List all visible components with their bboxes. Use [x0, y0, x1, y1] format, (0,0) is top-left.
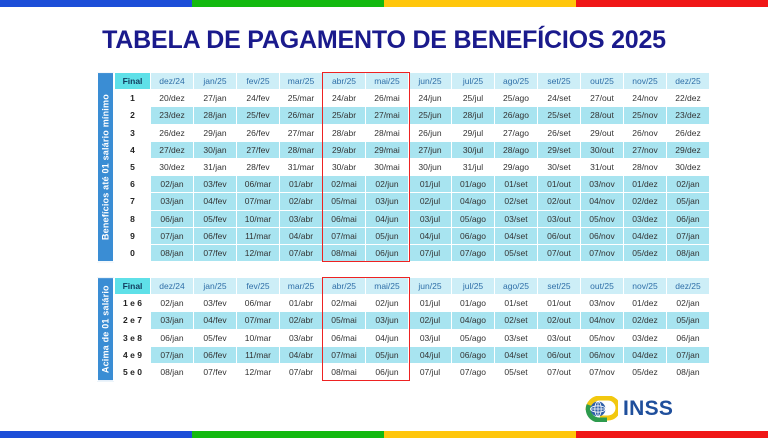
payment-date-cell: 25/mar: [280, 90, 323, 107]
payment-date-cell: 30/out: [581, 141, 624, 158]
payment-date-cell: 31/jan: [194, 158, 237, 175]
payment-date-cell: 07/out: [538, 363, 581, 380]
payment-date-cell: 02/mai: [323, 295, 366, 312]
payment-date-cell: 06/mar: [237, 295, 280, 312]
payment-date-cell: 24/abr: [323, 90, 366, 107]
table1-month-header-fev-25: fev/25: [237, 73, 280, 90]
payment-date-cell: 06/mar: [237, 176, 280, 193]
payment-date-cell: 01/dez: [624, 176, 667, 193]
payment-date-cell: 02/set: [495, 193, 538, 210]
payment-date-cell: 24/jun: [409, 90, 452, 107]
payment-date-cell: 26/dez: [667, 124, 710, 141]
payment-date-cell: 02/mai: [323, 176, 366, 193]
table-row: 120/dez27/jan24/fev25/mar24/abr26/mai24/…: [115, 90, 710, 107]
payment-date-cell: 03/jun: [366, 312, 409, 329]
table-row: 008/jan07/fev12/mar07/abr08/mai06/jun07/…: [115, 244, 710, 261]
payment-date-cell: 24/nov: [624, 90, 667, 107]
table1-header: Finaldez/24jan/25fev/25mar/25abr/25mai/2…: [115, 73, 710, 90]
payment-date-cell: 27/dez: [151, 141, 194, 158]
bottom-bar-segment-blue: [0, 431, 192, 438]
table2-final-value: 1 e 6: [115, 295, 151, 312]
payment-date-cell: 05/jun: [366, 346, 409, 363]
table-row: 703/jan04/fev07/mar02/abr05/mai03/jun02/…: [115, 193, 710, 210]
payment-date-cell: 02/jan: [151, 295, 194, 312]
payment-date-cell: 02/out: [538, 193, 581, 210]
payment-date-cell: 31/mar: [280, 158, 323, 175]
payment-date-cell: 30/mai: [366, 158, 409, 175]
payment-date-cell: 03/jan: [151, 312, 194, 329]
table2-final-header: Final: [115, 278, 151, 295]
table1-final-value: 4: [115, 141, 151, 158]
payment-date-cell: 08/mai: [323, 244, 366, 261]
payment-date-cell: 07/jan: [151, 227, 194, 244]
payment-date-cell: 05/jan: [667, 193, 710, 210]
table1-month-header-dez-25: dez/25: [667, 73, 710, 90]
table2-final-value: 3 e 8: [115, 329, 151, 346]
payment-date-cell: 29/dez: [667, 141, 710, 158]
payment-date-cell: 07/mar: [237, 312, 280, 329]
payment-date-cell: 24/fev: [237, 90, 280, 107]
payment-date-cell: 27/nov: [624, 141, 667, 158]
payment-date-cell: 07/mar: [237, 193, 280, 210]
payment-date-cell: 25/ago: [495, 90, 538, 107]
payment-date-cell: 03/dez: [624, 210, 667, 227]
table2-month-header-mai-25: mai/25: [366, 278, 409, 295]
payment-date-cell: 12/mar: [237, 244, 280, 261]
payment-date-cell: 10/mar: [237, 210, 280, 227]
payment-date-cell: 03/nov: [581, 176, 624, 193]
payment-date-cell: 26/nov: [624, 124, 667, 141]
payment-date-cell: 01/abr: [280, 176, 323, 193]
payment-date-cell: 06/jan: [151, 210, 194, 227]
inss-logo-mark: [584, 396, 618, 422]
payment-date-cell: 05/mai: [323, 193, 366, 210]
payment-date-cell: 04/dez: [624, 346, 667, 363]
payment-date-cell: 07/nov: [581, 244, 624, 261]
payment-date-cell: 05/nov: [581, 329, 624, 346]
payment-date-cell: 01/jul: [409, 176, 452, 193]
payment-date-cell: 07/fev: [194, 244, 237, 261]
payment-date-cell: 02/abr: [280, 193, 323, 210]
payment-date-cell: 02/jul: [409, 193, 452, 210]
payment-date-cell: 07/jul: [409, 244, 452, 261]
table2-month-header-nov-25: nov/25: [624, 278, 667, 295]
payment-date-cell: 07/out: [538, 244, 581, 261]
payment-date-cell: 27/mai: [366, 107, 409, 124]
payment-date-cell: 27/out: [581, 90, 624, 107]
payment-date-cell: 03/jul: [409, 329, 452, 346]
payment-date-cell: 06/mai: [323, 329, 366, 346]
inss-globe-icon: [584, 396, 618, 422]
payment-date-cell: 06/jan: [151, 329, 194, 346]
inss-wordmark: INSS: [623, 397, 673, 421]
payment-date-cell: 02/jun: [366, 176, 409, 193]
table1-final-value: 8: [115, 210, 151, 227]
payment-date-cell: 04/jul: [409, 227, 452, 244]
table1-month-header-abr-25: abr/25: [323, 73, 366, 90]
table1-final-value: 1: [115, 90, 151, 107]
payment-date-cell: 22/dez: [667, 90, 710, 107]
table-row: 4 e 907/jan06/fev11/mar04/abr07/mai05/ju…: [115, 346, 710, 363]
payment-date-cell: 26/mai: [366, 90, 409, 107]
payment-date-cell: 02/jan: [667, 295, 710, 312]
payment-date-cell: 25/fev: [237, 107, 280, 124]
table2-side-label: Acima de 01 salário: [97, 277, 114, 381]
payment-date-cell: 06/out: [538, 346, 581, 363]
payment-date-cell: 05/ago: [452, 210, 495, 227]
payment-date-cell: 01/set: [495, 295, 538, 312]
payment-date-cell: 02/abr: [280, 312, 323, 329]
payment-date-cell: 07/mai: [323, 227, 366, 244]
payment-date-cell: 26/ago: [495, 107, 538, 124]
table-row: 2 e 703/jan04/fev07/mar02/abr05/mai03/ju…: [115, 312, 710, 329]
table-row: 3 e 806/jan05/fev10/mar03/abr06/mai04/ju…: [115, 329, 710, 346]
payment-date-cell: 05/set: [495, 363, 538, 380]
table1-final-value: 7: [115, 193, 151, 210]
payment-date-cell: 07/fev: [194, 363, 237, 380]
payment-date-cell: 30/abr: [323, 158, 366, 175]
table1-month-header-jun-25: jun/25: [409, 73, 452, 90]
page-root: TABELA DE PAGAMENTO DE BENEFÍCIOS 2025 B…: [0, 0, 768, 438]
table2-header: Finaldez/24jan/25fev/25mar/25abr/25mai/2…: [115, 278, 710, 295]
payment-date-cell: 02/out: [538, 312, 581, 329]
payment-date-cell: 28/out: [581, 107, 624, 124]
payment-date-cell: 07/ago: [452, 363, 495, 380]
table-row: 5 e 008/jan07/fev12/mar07/abr08/mai06/ju…: [115, 363, 710, 380]
payment-date-cell: 06/fev: [194, 227, 237, 244]
benefits-table-minimum-wage: Benefícios até 01 salário mínimo Finalde…: [97, 72, 710, 262]
payment-date-cell: 25/jul: [452, 90, 495, 107]
table-row: 530/dez31/jan28/fev31/mar30/abr30/mai30/…: [115, 158, 710, 175]
payment-date-cell: 31/out: [581, 158, 624, 175]
payment-date-cell: 28/ago: [495, 141, 538, 158]
table-row: 1 e 602/jan03/fev06/mar01/abr02/mai02/ju…: [115, 295, 710, 312]
payment-date-cell: 04/dez: [624, 227, 667, 244]
payment-date-cell: 08/mai: [323, 363, 366, 380]
table1-month-header-dez-24: dez/24: [151, 73, 194, 90]
payment-date-cell: 06/fev: [194, 346, 237, 363]
table1-month-header-mar-25: mar/25: [280, 73, 323, 90]
table1-final-value: 0: [115, 244, 151, 261]
payment-date-cell: 28/jan: [194, 107, 237, 124]
payment-date-cell: 04/set: [495, 346, 538, 363]
payment-date-cell: 26/jun: [409, 124, 452, 141]
payment-date-cell: 05/jun: [366, 227, 409, 244]
payment-date-cell: 04/jun: [366, 329, 409, 346]
payment-date-cell: 29/out: [581, 124, 624, 141]
payment-date-cell: 28/abr: [323, 124, 366, 141]
table2-month-header-dez-25: dez/25: [667, 278, 710, 295]
bottom-bar-segment-yellow: [384, 431, 576, 438]
payment-date-cell: 02/jun: [366, 295, 409, 312]
payment-date-cell: 08/jan: [667, 363, 710, 380]
table2-month-header-out-25: out/25: [581, 278, 624, 295]
table1-body: 120/dez27/jan24/fev25/mar24/abr26/mai24/…: [115, 90, 710, 262]
table2-final-value: 5 e 0: [115, 363, 151, 380]
payment-date-cell: 01/out: [538, 295, 581, 312]
payment-date-cell: 02/jul: [409, 312, 452, 329]
table1-month-header-out-25: out/25: [581, 73, 624, 90]
payment-date-cell: 12/mar: [237, 363, 280, 380]
payment-date-cell: 30/dez: [151, 158, 194, 175]
table1-header-row: Finaldez/24jan/25fev/25mar/25abr/25mai/2…: [115, 73, 710, 90]
payment-date-cell: 23/dez: [667, 107, 710, 124]
table2-month-header-dez-24: dez/24: [151, 278, 194, 295]
payment-date-cell: 30/jan: [194, 141, 237, 158]
table1-month-header-set-25: set/25: [538, 73, 581, 90]
payment-date-cell: 05/fev: [194, 210, 237, 227]
payment-date-cell: 05/ago: [452, 329, 495, 346]
payment-date-cell: 29/jul: [452, 124, 495, 141]
payment-date-cell: 06/jun: [366, 244, 409, 261]
payment-date-cell: 04/jul: [409, 346, 452, 363]
payment-date-cell: 08/jan: [151, 244, 194, 261]
payment-date-cell: 03/dez: [624, 329, 667, 346]
payment-date-cell: 05/nov: [581, 210, 624, 227]
table2-final-value: 2 e 7: [115, 312, 151, 329]
table1-month-header-nov-25: nov/25: [624, 73, 667, 90]
table2-header-row: Finaldez/24jan/25fev/25mar/25abr/25mai/2…: [115, 278, 710, 295]
payment-date-cell: 26/fev: [237, 124, 280, 141]
table1-final-value: 6: [115, 176, 151, 193]
payment-date-cell: 07/jan: [667, 227, 710, 244]
table2-month-header-mar-25: mar/25: [280, 278, 323, 295]
payment-date-cell: 07/jul: [409, 363, 452, 380]
payment-date-cell: 02/jan: [151, 176, 194, 193]
payment-date-cell: 02/jan: [667, 176, 710, 193]
table1-final-value: 9: [115, 227, 151, 244]
table1-month-header-mai-25: mai/25: [366, 73, 409, 90]
payment-date-cell: 06/jun: [366, 363, 409, 380]
table1-month-header-jan-25: jan/25: [194, 73, 237, 90]
top-bar-segment-green: [192, 0, 384, 7]
payment-date-cell: 06/jan: [667, 210, 710, 227]
payment-date-cell: 30/dez: [667, 158, 710, 175]
payment-date-cell: 28/mar: [280, 141, 323, 158]
inss-logo: INSS: [584, 396, 673, 422]
payment-date-cell: 06/mai: [323, 210, 366, 227]
payment-date-cell: 01/dez: [624, 295, 667, 312]
payment-date-cell: 27/fev: [237, 141, 280, 158]
table2-final-value: 4 e 9: [115, 346, 151, 363]
table1-month-header-ago-25: ago/25: [495, 73, 538, 90]
payment-date-cell: 29/abr: [323, 141, 366, 158]
payment-date-cell: 03/set: [495, 210, 538, 227]
payment-date-cell: 06/nov: [581, 227, 624, 244]
payment-date-cell: 04/abr: [280, 346, 323, 363]
page-title: TABELA DE PAGAMENTO DE BENEFÍCIOS 2025: [0, 26, 768, 55]
payment-date-cell: 07/nov: [581, 363, 624, 380]
table1-final-header: Final: [115, 73, 151, 90]
payment-date-cell: 27/jan: [194, 90, 237, 107]
payment-date-cell: 06/nov: [581, 346, 624, 363]
payment-date-cell: 26/set: [538, 124, 581, 141]
payment-date-cell: 07/jan: [151, 346, 194, 363]
table2-month-header-ago-25: ago/25: [495, 278, 538, 295]
payment-date-cell: 04/fev: [194, 312, 237, 329]
payment-date-cell: 26/mar: [280, 107, 323, 124]
table2-body: 1 e 602/jan03/fev06/mar01/abr02/mai02/ju…: [115, 295, 710, 381]
table1-final-value: 2: [115, 107, 151, 124]
payment-date-cell: 06/out: [538, 227, 581, 244]
payment-date-cell: 31/jul: [452, 158, 495, 175]
payment-date-cell: 03/fev: [194, 295, 237, 312]
payment-date-cell: 25/jun: [409, 107, 452, 124]
table2-month-header-set-25: set/25: [538, 278, 581, 295]
payment-date-cell: 04/ago: [452, 193, 495, 210]
table2: Finaldez/24jan/25fev/25mar/25abr/25mai/2…: [114, 277, 710, 381]
payment-date-cell: 04/jun: [366, 210, 409, 227]
payment-date-cell: 28/mai: [366, 124, 409, 141]
payment-date-cell: 04/abr: [280, 227, 323, 244]
payment-date-cell: 03/jun: [366, 193, 409, 210]
payment-date-cell: 11/mar: [237, 346, 280, 363]
payment-date-cell: 08/jan: [667, 244, 710, 261]
payment-date-cell: 04/nov: [581, 193, 624, 210]
payment-date-cell: 07/abr: [280, 244, 323, 261]
payment-date-cell: 24/set: [538, 90, 581, 107]
payment-date-cell: 29/jan: [194, 124, 237, 141]
payment-date-cell: 03/abr: [280, 329, 323, 346]
payment-date-cell: 01/set: [495, 176, 538, 193]
payment-date-cell: 01/ago: [452, 295, 495, 312]
payment-date-cell: 10/mar: [237, 329, 280, 346]
top-bar-segment-yellow: [384, 0, 576, 7]
payment-date-cell: 03/abr: [280, 210, 323, 227]
top-color-bar: [0, 0, 768, 7]
table-row: 806/jan05/fev10/mar03/abr06/mai04/jun03/…: [115, 210, 710, 227]
payment-date-cell: 04/ago: [452, 312, 495, 329]
payment-date-cell: 30/jun: [409, 158, 452, 175]
top-bar-segment-blue: [0, 0, 192, 7]
payment-date-cell: 04/set: [495, 227, 538, 244]
table-row: 326/dez29/jan26/fev27/mar28/abr28/mai26/…: [115, 124, 710, 141]
payment-date-cell: 11/mar: [237, 227, 280, 244]
payment-date-cell: 03/out: [538, 210, 581, 227]
table-row: 427/dez30/jan27/fev28/mar29/abr29/mai27/…: [115, 141, 710, 158]
table-row: 223/dez28/jan25/fev26/mar25/abr27/mai25/…: [115, 107, 710, 124]
payment-date-cell: 04/nov: [581, 312, 624, 329]
payment-date-cell: 03/set: [495, 329, 538, 346]
table1-month-header-jul-25: jul/25: [452, 73, 495, 90]
payment-date-cell: 30/set: [538, 158, 581, 175]
payment-date-cell: 07/jan: [667, 346, 710, 363]
table2-month-header-abr-25: abr/25: [323, 278, 366, 295]
payment-date-cell: 05/fev: [194, 329, 237, 346]
payment-date-cell: 01/out: [538, 176, 581, 193]
table1-final-value: 3: [115, 124, 151, 141]
benefits-table-above-minimum-wage: Acima de 01 salário Finaldez/24jan/25fev…: [97, 277, 710, 381]
bottom-color-bar: [0, 431, 768, 438]
table-row: 907/jan06/fev11/mar04/abr07/mai05/jun04/…: [115, 227, 710, 244]
table-row: 602/jan03/fev06/mar01/abr02/mai02/jun01/…: [115, 176, 710, 193]
payment-date-cell: 05/mai: [323, 312, 366, 329]
payment-date-cell: 25/abr: [323, 107, 366, 124]
payment-date-cell: 08/jan: [151, 363, 194, 380]
payment-date-cell: 03/jan: [151, 193, 194, 210]
bottom-bar-segment-green: [192, 431, 384, 438]
payment-date-cell: 02/set: [495, 312, 538, 329]
payment-date-cell: 02/dez: [624, 193, 667, 210]
payment-date-cell: 26/dez: [151, 124, 194, 141]
payment-date-cell: 03/nov: [581, 295, 624, 312]
bottom-bar-segment-red: [576, 431, 768, 438]
payment-date-cell: 29/set: [538, 141, 581, 158]
payment-date-cell: 07/abr: [280, 363, 323, 380]
payment-date-cell: 28/fev: [237, 158, 280, 175]
payment-date-cell: 05/dez: [624, 244, 667, 261]
table1: Finaldez/24jan/25fev/25mar/25abr/25mai/2…: [114, 72, 710, 262]
payment-date-cell: 05/jan: [667, 312, 710, 329]
table2-month-header-fev-25: fev/25: [237, 278, 280, 295]
table1-final-value: 5: [115, 158, 151, 175]
payment-date-cell: 05/set: [495, 244, 538, 261]
payment-date-cell: 27/mar: [280, 124, 323, 141]
payment-date-cell: 23/dez: [151, 107, 194, 124]
payment-date-cell: 01/jul: [409, 295, 452, 312]
payment-date-cell: 03/jul: [409, 210, 452, 227]
table2-month-header-jan-25: jan/25: [194, 278, 237, 295]
payment-date-cell: 20/dez: [151, 90, 194, 107]
payment-date-cell: 27/ago: [495, 124, 538, 141]
payment-date-cell: 28/nov: [624, 158, 667, 175]
payment-date-cell: 29/ago: [495, 158, 538, 175]
payment-date-cell: 06/ago: [452, 346, 495, 363]
payment-date-cell: 07/ago: [452, 244, 495, 261]
payment-date-cell: 06/ago: [452, 227, 495, 244]
payment-date-cell: 05/dez: [624, 363, 667, 380]
payment-date-cell: 01/abr: [280, 295, 323, 312]
payment-date-cell: 07/mai: [323, 346, 366, 363]
table2-month-header-jun-25: jun/25: [409, 278, 452, 295]
payment-date-cell: 06/jan: [667, 329, 710, 346]
table1-side-label: Benefícios até 01 salário mínimo: [97, 72, 114, 262]
payment-date-cell: 01/ago: [452, 176, 495, 193]
payment-date-cell: 25/nov: [624, 107, 667, 124]
payment-date-cell: 03/out: [538, 329, 581, 346]
top-bar-segment-red: [576, 0, 768, 7]
payment-date-cell: 28/jul: [452, 107, 495, 124]
table2-month-header-jul-25: jul/25: [452, 278, 495, 295]
payment-date-cell: 30/jul: [452, 141, 495, 158]
payment-date-cell: 02/dez: [624, 312, 667, 329]
payment-date-cell: 29/mai: [366, 141, 409, 158]
payment-date-cell: 04/fev: [194, 193, 237, 210]
payment-date-cell: 03/fev: [194, 176, 237, 193]
payment-date-cell: 25/set: [538, 107, 581, 124]
payment-date-cell: 27/jun: [409, 141, 452, 158]
